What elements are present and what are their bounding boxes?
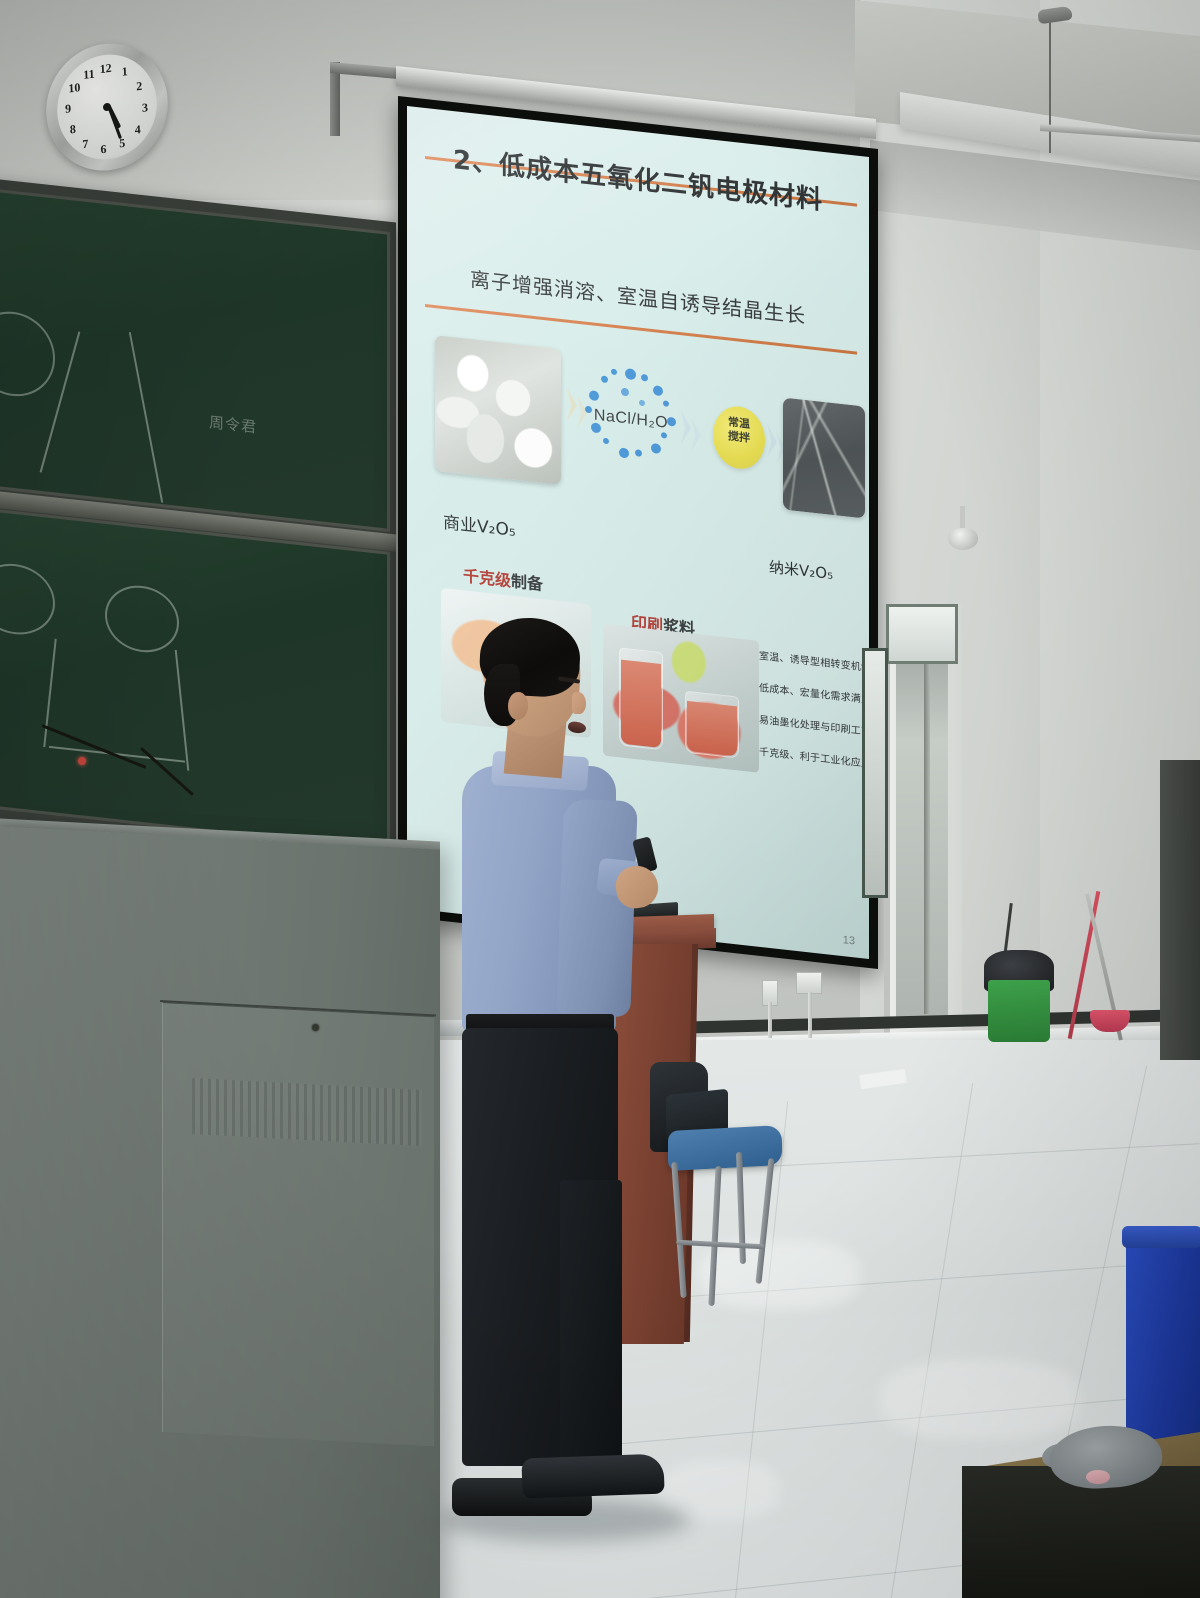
slide-subtitle: 离子增强消溶、室温自诱导结晶生长 bbox=[407, 256, 869, 336]
kg-rest-part: 制备 bbox=[511, 571, 543, 594]
open-door[interactable] bbox=[896, 620, 948, 1022]
clock-numeral: 2 bbox=[131, 79, 147, 96]
ceiling-lamp-rod bbox=[1049, 18, 1051, 153]
chalk-circle bbox=[105, 582, 179, 656]
slurry-jar-short bbox=[685, 691, 739, 759]
stir-line-1: 常温 bbox=[728, 415, 750, 430]
clock-numeral: 3 bbox=[137, 100, 153, 117]
lock-icon[interactable] bbox=[312, 1024, 319, 1031]
blackboard-panel-lower bbox=[0, 509, 390, 852]
microphone-indicator-icon bbox=[78, 757, 86, 765]
stirring-condition-label: 常温 搅拌 bbox=[713, 414, 765, 447]
ceiling-dome-camera-icon bbox=[948, 528, 978, 550]
commercial-v2o5-photo bbox=[435, 335, 561, 485]
presenter-arm bbox=[556, 799, 637, 1017]
printing-slurry-photo bbox=[603, 624, 759, 773]
clock-numeral: 7 bbox=[77, 136, 93, 153]
kg-red-part: 千克级 bbox=[463, 566, 511, 590]
blue-water-tub bbox=[1126, 1232, 1200, 1454]
chalk-circle bbox=[0, 560, 55, 639]
blue-tub-lid bbox=[1122, 1226, 1200, 1248]
door-jamb bbox=[924, 634, 930, 1014]
stir-line-2: 搅拌 bbox=[728, 429, 750, 444]
clock-numeral: 11 bbox=[81, 66, 97, 83]
nano-v2o5-sem-photo bbox=[783, 398, 865, 519]
slurry-jar-tall bbox=[619, 647, 663, 750]
presenter-nose bbox=[572, 692, 586, 714]
presenter-trouser-leg bbox=[560, 1180, 622, 1480]
slide-page-number: 13 bbox=[843, 934, 855, 947]
wall-clock: 12 1 2 3 4 5 6 7 8 9 10 11 bbox=[46, 44, 168, 170]
chalk-note: 周令君 bbox=[209, 411, 257, 437]
green-trash-bin bbox=[988, 980, 1050, 1042]
transom-window bbox=[886, 604, 958, 664]
clock-numeral: 4 bbox=[130, 122, 146, 139]
clock-numeral: 1 bbox=[117, 63, 133, 80]
slide-bullet-list: 室温、诱导型相转变机制 低成本、宏量化需求满足 易油墨化处理与印刷工艺 千克级、… bbox=[759, 647, 865, 787]
console-access-panel[interactable] bbox=[162, 1002, 434, 1446]
kilogram-scale-tag: 千克级制备 bbox=[463, 562, 543, 595]
list-item: 室温、诱导型相转变机制 bbox=[759, 647, 865, 674]
blackboard: 周令君 bbox=[0, 178, 396, 883]
clock-numeral: 6 bbox=[95, 141, 111, 158]
clock-numeral: 12 bbox=[97, 60, 113, 77]
presenter-shoe-right bbox=[521, 1454, 664, 1499]
list-item: 低成本、宏量化需求满足 bbox=[759, 679, 865, 706]
clock-numeral: 10 bbox=[66, 80, 82, 97]
wall-pipe bbox=[768, 1002, 772, 1038]
chalk-circle bbox=[0, 307, 55, 400]
list-item: 易油墨化处理与印刷工艺 bbox=[759, 711, 865, 738]
wall-pipe bbox=[808, 992, 812, 1038]
chalk-stroke bbox=[129, 332, 163, 503]
console-vent-grille bbox=[192, 1078, 422, 1146]
chalk-stroke bbox=[175, 650, 190, 771]
dark-cabinet bbox=[1160, 760, 1200, 1060]
side-window bbox=[862, 648, 888, 898]
blue-chair-seat[interactable] bbox=[668, 1125, 782, 1171]
clock-numeral: 9 bbox=[60, 101, 76, 118]
chevron-right-icon bbox=[691, 417, 701, 452]
presenter-ear bbox=[508, 692, 528, 720]
clock-numeral: 8 bbox=[65, 121, 81, 138]
clock-numeral: 5 bbox=[114, 136, 130, 153]
list-item: 千克级、利于工业化应用 bbox=[759, 743, 865, 770]
blackboard-panel-upper: 周令君 bbox=[0, 189, 390, 532]
chevron-right-icon bbox=[767, 424, 777, 459]
slide-title: 2、低成本五氧化二钒电极材料 bbox=[407, 134, 869, 222]
wall-outlet-box[interactable] bbox=[796, 972, 822, 994]
lecture-hall-photo: 12 1 2 3 4 5 6 7 8 9 10 11 周令君 bbox=[0, 0, 1200, 1598]
plush-toy-nose bbox=[1086, 1470, 1110, 1484]
